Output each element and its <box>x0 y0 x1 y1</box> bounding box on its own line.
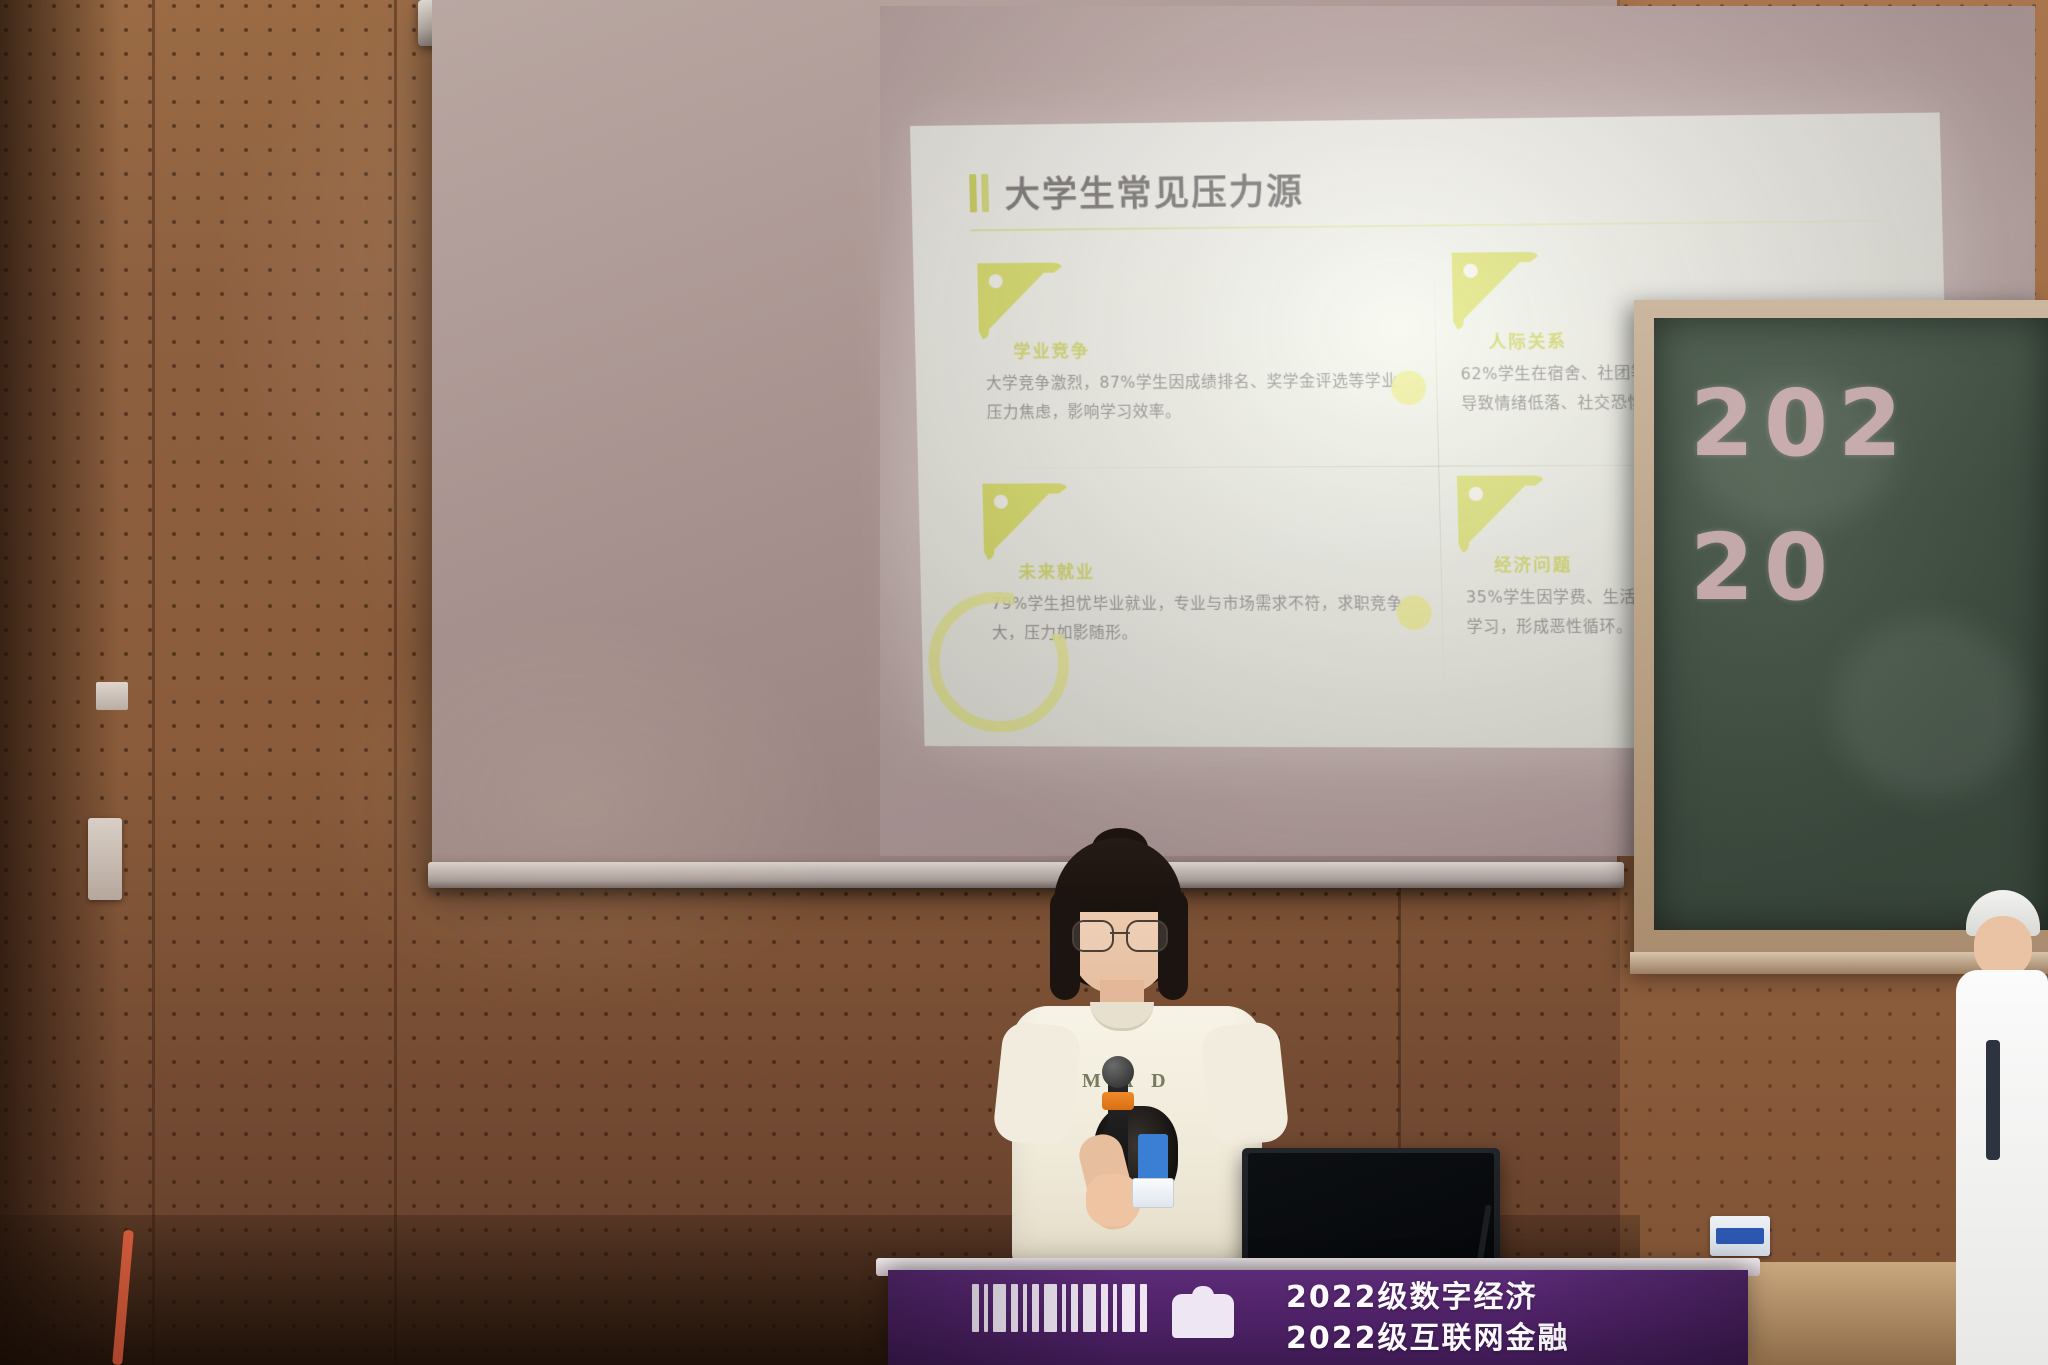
corner-triangle-icon <box>978 477 1072 562</box>
microphone-band <box>1102 1092 1134 1110</box>
corner-triangle-icon <box>973 256 1067 341</box>
wall-seam <box>152 0 155 1365</box>
podium-banner-text: 2022级数字经济 2022级互联网金融 <box>1286 1278 1726 1359</box>
wall-outlet <box>88 818 122 900</box>
projection-screen-frame: 大学生常见压力源 学业竞争 <box>432 0 1617 872</box>
lanyard <box>1138 1134 1168 1184</box>
podium-banner-line2: 2022级互联网金融 <box>1286 1319 1726 1360</box>
decorative-dot <box>1391 370 1427 405</box>
podium-barcode-graphic <box>972 1284 1147 1332</box>
double-bar-icon <box>969 174 989 212</box>
stress-card-body: 大学竞争激烈，87%学生因成绩排名、奖学金评选等学业压力焦虑，影响学习效率。 <box>986 367 1403 427</box>
head <box>1974 916 2032 978</box>
corner-triangle-icon <box>1447 246 1544 332</box>
slide-title-underline <box>970 220 1882 232</box>
corner-triangle-icon <box>1453 469 1550 555</box>
monitor-screen <box>1248 1153 1494 1270</box>
chalk-text-line1: 202 <box>1690 370 1912 477</box>
sleeve-left <box>992 1020 1082 1147</box>
blackboard: 202 20 <box>1654 318 2048 930</box>
sleeve-right <box>1200 1020 1290 1147</box>
glasses-lens-right <box>1126 920 1168 952</box>
podium-shield-graphic <box>1172 1294 1234 1338</box>
stress-card-title: 人际关系 <box>1488 327 1567 353</box>
decorative-dot <box>1396 595 1432 629</box>
chalk-text-line2: 20 <box>1690 514 1838 621</box>
microphone-head <box>1102 1056 1134 1088</box>
lecture-room-photo: 大学生常见压力源 学业竞争 <box>0 0 2048 1365</box>
slide-header: 大学生常见压力源 <box>969 163 1305 218</box>
slide-title: 大学生常见压力源 <box>1004 163 1304 218</box>
chalk-box <box>1710 1216 1770 1256</box>
stress-card-title: 未来就业 <box>1018 558 1095 583</box>
wall-plate <box>96 682 128 710</box>
glasses-lens-left <box>1072 920 1114 952</box>
podium-banner-line1: 2022级数字经济 <box>1286 1278 1726 1319</box>
chalk-box-label <box>1716 1228 1764 1244</box>
background-person <box>1956 890 2048 1365</box>
stress-card-title: 经济问题 <box>1494 551 1573 577</box>
stress-card: 学业竞争 大学竞争激烈，87%学生因成绩排名、奖学金评选等学业压力焦虑，影响学习… <box>959 249 1425 479</box>
chalk-smudge <box>1834 618 2024 798</box>
glasses-icon <box>1072 920 1168 948</box>
stress-card-title: 学业竞争 <box>1013 337 1090 363</box>
id-badge <box>1132 1178 1174 1208</box>
bag-strap <box>1986 1040 2000 1160</box>
torso <box>1956 970 2048 1365</box>
